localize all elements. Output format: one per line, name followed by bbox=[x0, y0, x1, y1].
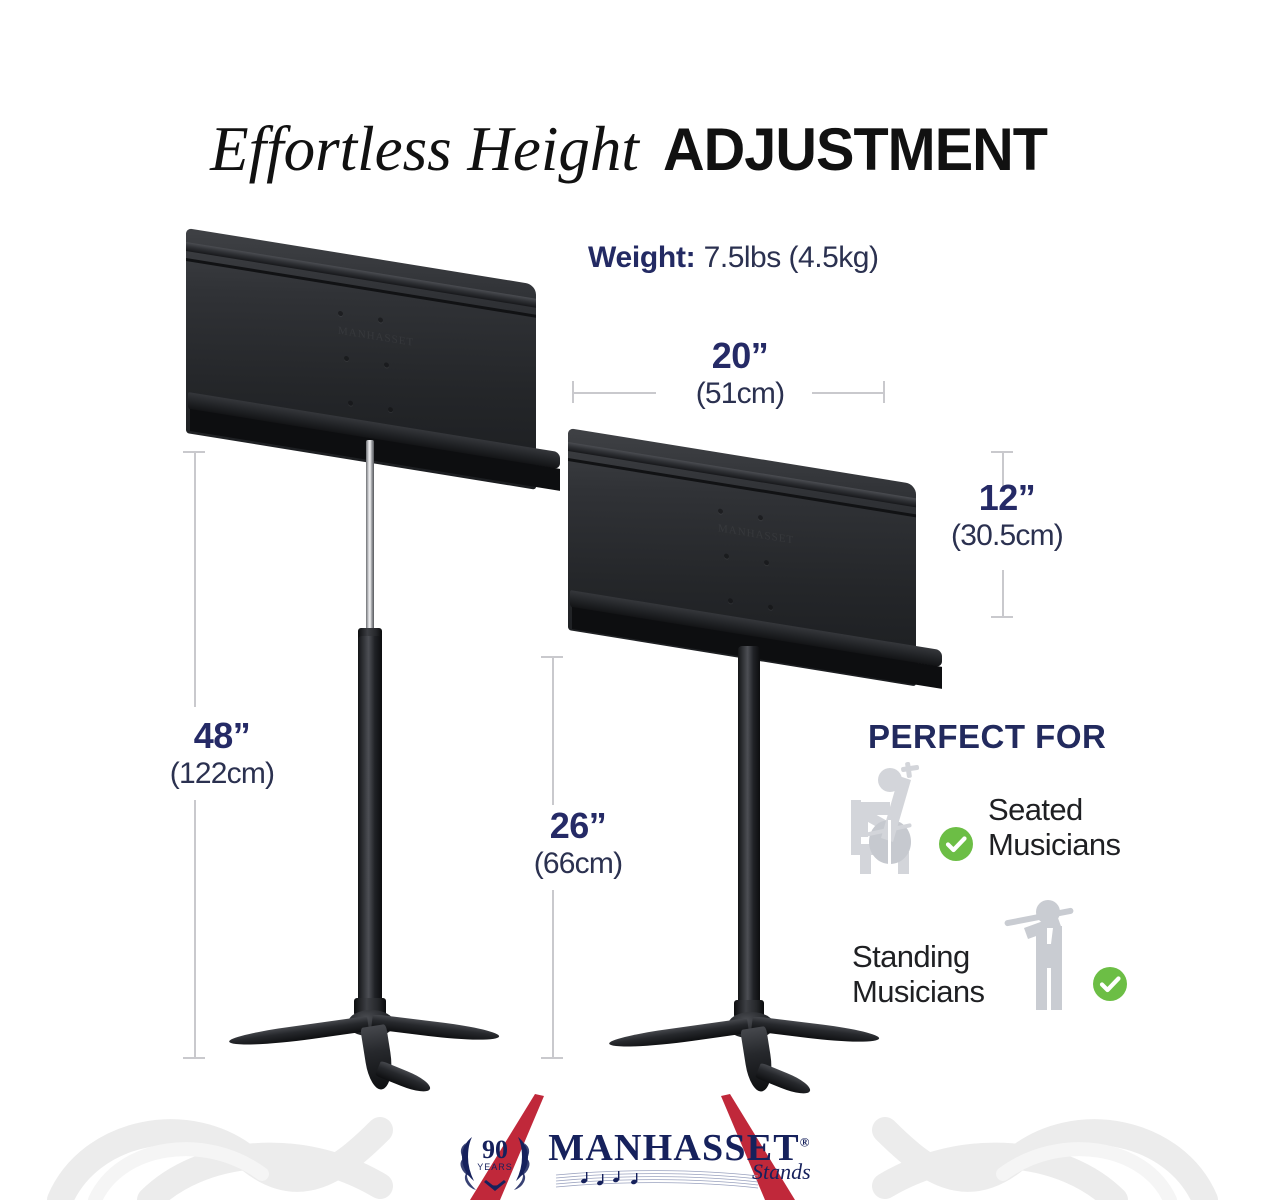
dimension-max-height-imperial: 48” bbox=[112, 718, 332, 755]
dimension-min-height-metric: (66cm) bbox=[468, 849, 688, 880]
dimension-line-maxheight-bottom bbox=[194, 800, 196, 1058]
perfect-for-standing-line1: Standing bbox=[852, 940, 984, 975]
page-title: Effortless HeightADJUSTMENT bbox=[0, 118, 1265, 181]
standing-flutist-icon bbox=[998, 898, 1084, 1015]
stand-tall-lower-shaft bbox=[358, 636, 382, 1006]
perfect-for-item-seated: Seated Musicians bbox=[846, 762, 1120, 879]
dimension-cap-depth-top bbox=[991, 451, 1013, 453]
perfect-for-seated-line1: Seated bbox=[988, 793, 1120, 828]
dimension-cap-depth-bottom bbox=[991, 616, 1013, 618]
dimension-line-minheight-bottom bbox=[552, 890, 554, 1058]
dimension-cap-minheight-bottom bbox=[541, 1057, 563, 1059]
brand-tagline: Stands bbox=[752, 1161, 811, 1183]
dimension-width-imperial: 20” bbox=[620, 338, 860, 375]
perfect-for-seated-label: Seated Musicians bbox=[988, 793, 1120, 862]
stand-short-leg-right bbox=[751, 1016, 880, 1046]
perfect-for-seated-line2: Musicians bbox=[988, 828, 1120, 863]
brand-registered-mark: ® bbox=[800, 1134, 811, 1149]
dimension-line-depth-bottom bbox=[1002, 570, 1004, 618]
stand-short-leg-left bbox=[608, 1018, 749, 1052]
dimension-cap-minheight-top bbox=[541, 656, 563, 658]
dimension-label-min-height: 26” (66cm) bbox=[468, 808, 688, 879]
dimension-line-maxheight-top bbox=[194, 452, 196, 707]
stand-tall-upper-shaft bbox=[366, 440, 374, 636]
perfect-for-item-standing: Standing Musicians bbox=[852, 898, 1130, 1015]
dimension-label-max-height: 48” (122cm) bbox=[112, 718, 332, 789]
dimension-cap-width-left bbox=[572, 381, 574, 403]
perfect-for-heading: PERFECT FOR bbox=[868, 718, 1106, 756]
dimension-width-metric: (51cm) bbox=[620, 379, 860, 410]
check-icon-standing bbox=[1090, 964, 1130, 1009]
brand-logo: 90 YEARS MANHASSET® bbox=[0, 1125, 1265, 1198]
anniversary-word: YEARS bbox=[478, 1162, 514, 1172]
anniversary-badge-icon: 90 YEARS bbox=[454, 1125, 536, 1197]
poster-canvas: Effortless HeightADJUSTMENT Weight: 7.5l… bbox=[0, 0, 1265, 1200]
dimension-max-height-metric: (122cm) bbox=[112, 759, 332, 790]
perfect-for-standing-line2: Musicians bbox=[852, 975, 984, 1010]
check-icon-seated bbox=[936, 824, 976, 869]
dimension-label-width: 20” (51cm) bbox=[620, 338, 860, 409]
dimension-depth-metric: (30.5cm) bbox=[912, 521, 1102, 552]
page-title-bold: ADJUSTMENT bbox=[663, 120, 1047, 180]
dimension-label-depth: 12” (30.5cm) bbox=[912, 480, 1102, 551]
dimension-cap-width-right bbox=[883, 381, 885, 403]
perfect-for-standing-label: Standing Musicians bbox=[852, 940, 984, 1009]
dimension-min-height-imperial: 26” bbox=[468, 808, 688, 845]
dimension-depth-imperial: 12” bbox=[912, 480, 1102, 517]
desk-ridge-lower bbox=[186, 258, 536, 318]
stand-short-shaft bbox=[738, 646, 760, 1008]
stand-tall-leg-left bbox=[228, 1016, 369, 1050]
dimension-cap-maxheight-bottom bbox=[183, 1057, 205, 1059]
brand-wordmark: MANHASSET® bbox=[548, 1129, 810, 1193]
page-title-script: Effortless Height bbox=[210, 114, 639, 184]
weight-value: 7.5lbs (4.5kg) bbox=[704, 241, 879, 274]
dimension-cap-maxheight-top bbox=[183, 451, 205, 453]
anniversary-number: 90 bbox=[482, 1135, 508, 1164]
weight-spec: Weight: 7.5lbs (4.5kg) bbox=[588, 241, 878, 275]
desk-ridge-upper bbox=[568, 442, 916, 507]
desk-ridge-upper bbox=[186, 242, 536, 308]
dimension-line-minheight-top bbox=[552, 657, 554, 805]
stand-tall-leg-right bbox=[371, 1014, 500, 1044]
desk-ridge-lower bbox=[568, 458, 916, 517]
weight-label: Weight: bbox=[588, 241, 695, 274]
